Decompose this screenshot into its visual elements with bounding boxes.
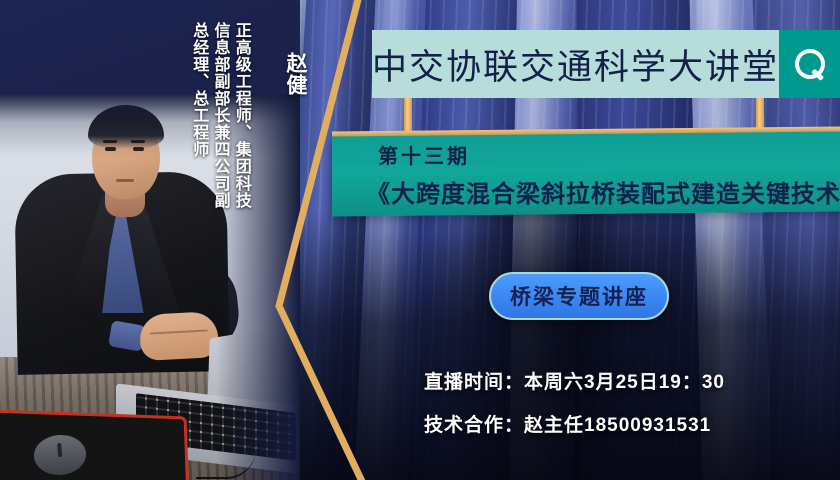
search-icon — [795, 49, 825, 79]
episode-title: 《大跨度混合梁斜拉桥装配式建造关键技术》 — [366, 174, 840, 209]
page-title: 中交协联交通科学大讲堂 — [372, 39, 779, 90]
topic-badge: 桥梁专题讲座 — [489, 272, 669, 320]
episode-banner: 第十三期 《大跨度混合梁斜拉桥装配式建造关键技术》 — [332, 132, 840, 217]
topic-badge-label: 桥梁专题讲座 — [510, 281, 648, 311]
search-button[interactable] — [779, 30, 840, 98]
speaker-title-line-1: 正高级工程师、集团科技 — [233, 22, 250, 209]
broadcast-time: 直播时间：本周六3月25日19：30 — [424, 367, 725, 394]
livestream-poster: 赵健 正高级工程师、集团科技 信息部副部长兼四公司副 总经理、总工程师 中交协联… — [0, 0, 840, 480]
speaker-name: 赵健 — [284, 52, 306, 96]
speaker-title-line-3: 总经理、总工程师 — [190, 22, 207, 158]
gold-divider — [255, 0, 385, 480]
speaker-title-line-2: 信息部副部长兼四公司副 — [211, 22, 228, 209]
contact-info: 技术合作：赵主任18500931531 — [424, 410, 711, 437]
title-banner-text-area: 中交协联交通科学大讲堂 — [372, 30, 779, 98]
episode-number: 第十三期 — [378, 140, 840, 169]
speaker-titles: 正高级工程师、集团科技 信息部副部长兼四公司副 总经理、总工程师 — [190, 22, 250, 209]
title-banner: 中交协联交通科学大讲堂 — [372, 30, 840, 98]
